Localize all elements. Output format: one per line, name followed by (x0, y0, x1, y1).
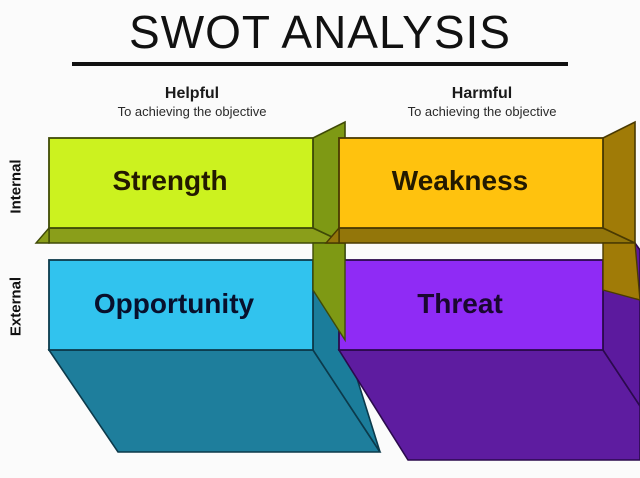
quadrant-blocks (0, 0, 640, 478)
threat-front-face (339, 260, 603, 350)
swot-analysis-diagram: SWOT ANALYSIS Helpful To achieving the o… (0, 0, 640, 478)
opportunity-front-face (49, 260, 313, 350)
quadrant-block-threat[interactable] (339, 243, 640, 460)
strength-front-face (49, 138, 313, 228)
weakness-side-tail (603, 243, 640, 300)
threat-bottom-face (339, 350, 640, 460)
weakness-bottom-face (339, 228, 635, 243)
weakness-side-face (603, 122, 635, 243)
weakness-front-face (339, 138, 603, 228)
strength-bottom-skirt (36, 228, 49, 243)
strength-bottom-face (49, 228, 345, 243)
